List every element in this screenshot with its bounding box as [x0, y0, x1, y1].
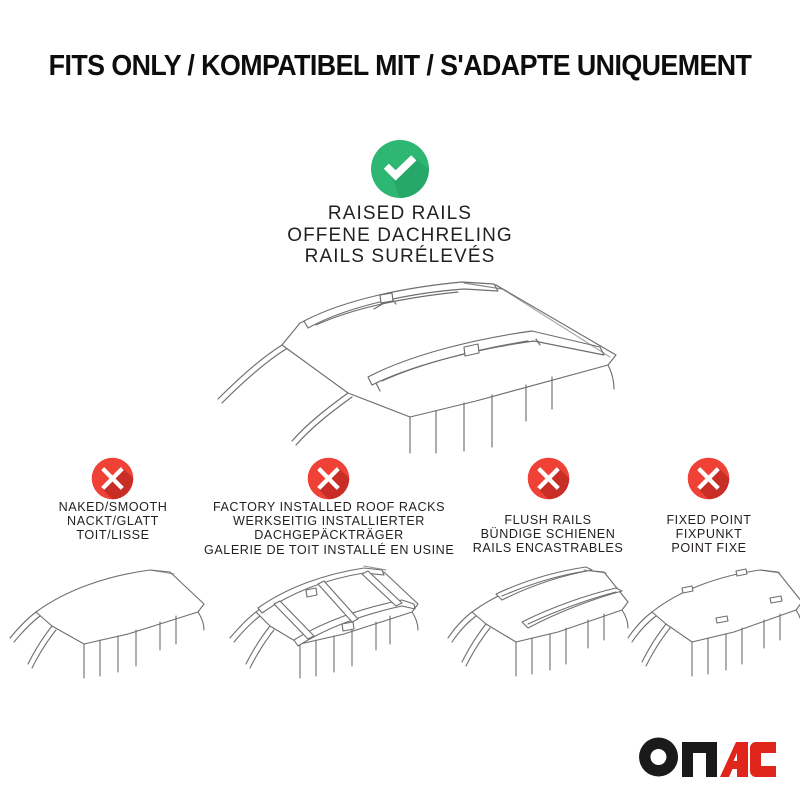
incompatible-label-group-flush-rails: FLUSH RAILS BÜNDIGE SCHIENEN RAILS ENCAS…	[448, 513, 648, 556]
cross-circle-icon	[527, 457, 570, 500]
incompatible-label-de: NACKT/GLATT	[13, 514, 213, 528]
incompatible-label-de: BÜNDIGE SCHIENEN	[448, 527, 648, 541]
cross-circle-icon	[687, 457, 730, 500]
car-roof-bare-illustration	[8, 560, 208, 690]
incompatible-label-group-fixed-point: FIXED POINT FIXPUNKT POINT FIXE	[624, 513, 794, 556]
incompatible-label-en: FLUSH RAILS	[448, 513, 648, 527]
incompatible-label-en: FIXED POINT	[624, 513, 794, 527]
compatible-label-group: RAISED RAILS OFFENE DACHRELING RAILS SUR…	[200, 203, 600, 268]
omac-logo	[638, 736, 778, 778]
compatible-label-de: OFFENE DACHRELING	[200, 225, 600, 247]
compatible-label-fr: RAILS SURÉLEVÉS	[200, 246, 600, 268]
page-title: FITS ONLY / KOMPATIBEL MIT / S'ADAPTE UN…	[24, 50, 776, 83]
incompatible-label-de-1: WERKSEITIG INSTALLIERTER	[204, 514, 454, 528]
check-circle-icon	[370, 139, 430, 199]
incompatible-label-group-naked-smooth: NAKED/SMOOTH NACKT/GLATT TOIT/LISSE	[13, 500, 213, 543]
car-roof-with-fixed-points-illustration	[624, 558, 800, 688]
compatible-label-en: RAISED RAILS	[200, 203, 600, 225]
cross-circle-icon	[91, 457, 134, 500]
incompatible-label-de: FIXPUNKT	[624, 527, 794, 541]
car-roof-with-factory-crossbars-illustration	[222, 556, 422, 691]
infographic-canvas: FITS ONLY / KOMPATIBEL MIT / S'ADAPTE UN…	[0, 0, 800, 800]
incompatible-label-en: NAKED/SMOOTH	[13, 500, 213, 514]
car-roof-with-flush-rails-illustration	[446, 560, 631, 690]
cross-circle-icon	[307, 457, 350, 500]
car-roof-with-raised-rails-illustration	[196, 281, 616, 456]
incompatible-label-de-2: DACHGEPÄCKTRÄGER	[204, 528, 454, 542]
incompatible-label-en: FACTORY INSTALLED ROOF RACKS	[204, 500, 454, 514]
incompatible-label-group-factory-roof-racks: FACTORY INSTALLED ROOF RACKS WERKSEITIG …	[204, 500, 454, 557]
incompatible-label-fr: GALERIE DE TOIT INSTALLÉ EN USINE	[204, 543, 454, 557]
incompatible-label-fr: TOIT/LISSE	[13, 528, 213, 542]
incompatible-label-fr: RAILS ENCASTRABLES	[448, 541, 648, 555]
incompatible-label-fr: POINT FIXE	[624, 541, 794, 555]
